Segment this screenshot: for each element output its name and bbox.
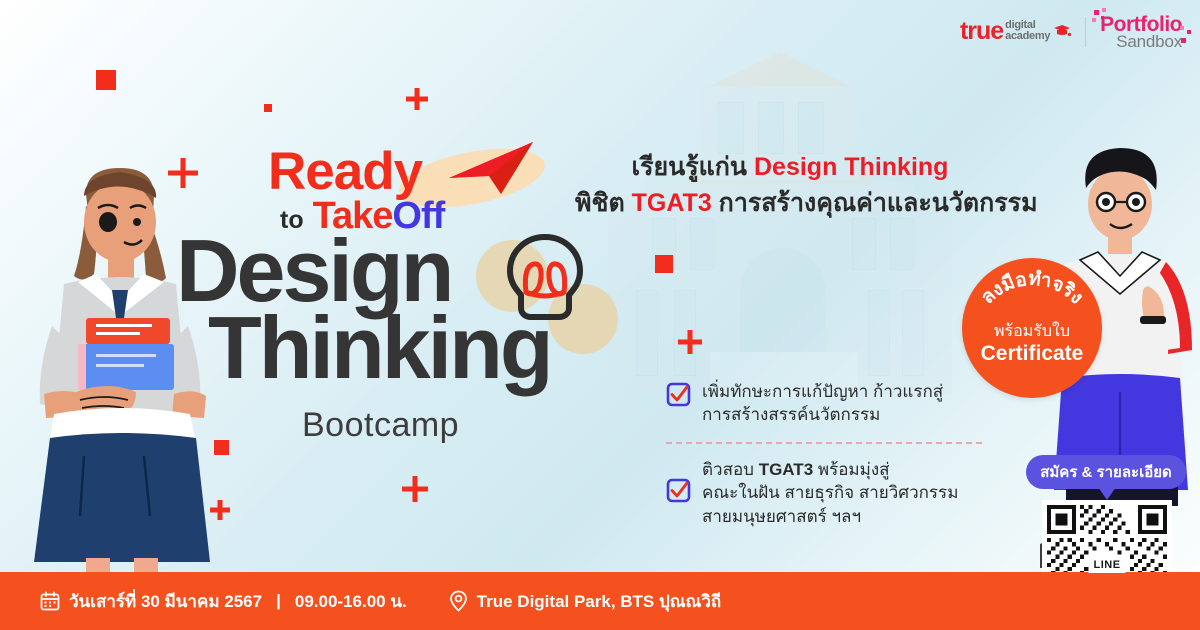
location-pin-icon (449, 590, 468, 612)
event-venue: True Digital Park, BTS ปุณณวิถี (477, 588, 722, 615)
headline-thai-2b: การสร้างคุณค่าและนวัตกรรม (712, 189, 1038, 217)
headline-thai-1: เรียนรู้แก่น (632, 153, 754, 181)
headline-line-2: พิชิต TGAT3 การสร้างคุณค่าและนวัตกรรม (575, 186, 1005, 222)
decor-plus (406, 88, 428, 110)
true-digital-academy-logo: true digital academy (960, 20, 1071, 44)
portfolio-logo-dots-right (1178, 26, 1196, 48)
bullet-2-line-2: คณะในฝัน สายธุรกิจ สายวิศวกรรม (702, 481, 958, 504)
line-label: LINE (1088, 557, 1125, 573)
dashed-divider (666, 442, 982, 444)
decor-square (264, 104, 272, 112)
headline-red-1: Design Thinking (754, 153, 948, 181)
headline-line-1: เรียนรู้แก่น Design Thinking (575, 150, 1005, 186)
student-female-illustration (24, 166, 224, 572)
page-title: Design Thinking (176, 232, 551, 387)
event-date: วันเสาร์ที่ 30 มีนาคม 2567 (69, 588, 262, 615)
bullet-2-line-1: ติวสอบ TGAT3 พร้อมมุ่งสู่ (702, 458, 958, 481)
bullet-2-line-3: สายมนุษยศาสตร์ ฯลฯ (702, 505, 958, 528)
subtitle-bootcamp: Bootcamp (302, 406, 459, 445)
graduation-cap-icon (1053, 24, 1071, 41)
checkbox-checked-icon (666, 478, 691, 503)
calendar-icon (40, 591, 60, 611)
paper-plane-icon (445, 138, 540, 200)
list-item: ติวสอบ TGAT3 พร้อมมุ่งสู่ คณะในฝัน สายธุ… (666, 458, 986, 528)
checkbox-checked-icon (666, 382, 691, 407)
event-details-bar: วันเสาร์ที่ 30 มีนาคม 2567 | 09.00-16.00… (0, 572, 1200, 630)
list-item-text: ติวสอบ TGAT3 พร้อมมุ่งสู่ คณะในฝัน สายธุ… (702, 458, 958, 528)
decor-plus (402, 476, 428, 502)
logo-divider (1085, 17, 1086, 47)
decor-square (655, 255, 673, 273)
event-date-group: วันเสาร์ที่ 30 มีนาคม 2567 (40, 588, 262, 615)
brand-logos: true digital academy Portfolio (960, 14, 1182, 50)
true-wordmark: true (960, 20, 1003, 44)
sandbox-wordmark: Sandbox (1100, 33, 1182, 50)
cta-pointer (1098, 487, 1116, 500)
bullet-2-bold: TGAT3 (759, 460, 813, 479)
bullet-1-line-1: เพิ่มทักษะการแก้ปัญหา ก้าวแรกสู่ (702, 380, 943, 403)
title-line-2: Thinking (208, 309, 551, 386)
decor-plus (678, 330, 702, 354)
bullet-1-line-2: การสร้างสรรค์นวัตกรรม (702, 403, 943, 426)
lightbulb-icon (502, 232, 588, 326)
headline-thai-2a: พิชิต (575, 189, 632, 217)
certificate-badge: ลงมือทำจริง พร้อมรับใบ Certificate (962, 258, 1102, 398)
bullet-2-pre: ติวสอบ (702, 460, 759, 479)
list-item-text: เพิ่มทักษะการแก้ปัญหา ก้าวแรกสู่ การสร้า… (702, 380, 943, 427)
decor-square (96, 70, 116, 90)
footer-separator: | (276, 591, 281, 611)
true-logo-academy: academy (1005, 31, 1050, 42)
headline-red-2: TGAT3 (632, 189, 712, 217)
register-cta-button[interactable]: สมัคร & รายละเอียด (1026, 455, 1186, 489)
list-item: เพิ่มทักษะการแก้ปัญหา ก้าวแรกสู่ การสร้า… (666, 380, 986, 427)
badge-line-3: Certificate (981, 341, 1084, 366)
badge-arc-text: ลงมือทำจริง (962, 264, 1102, 334)
event-venue-group: True Digital Park, BTS ปุณณวิถี (449, 588, 722, 615)
event-time: 09.00-16.00 น. (295, 588, 407, 615)
bullet-2-post: พร้อมมุ่งสู่ (813, 460, 889, 479)
headline-block: เรียนรู้แก่น Design Thinking พิชิต TGAT3… (575, 150, 1005, 221)
feature-list: เพิ่มทักษะการแก้ปัญหา ก้าวแรกสู่ การสร้า… (666, 380, 986, 528)
cta-label: สมัคร & รายละเอียด (1040, 460, 1171, 484)
ready-text: Ready (268, 148, 588, 197)
portfolio-logo-dots (1092, 8, 1118, 28)
svg-text:ลงมือทำจริง: ลงมือทำจริง (977, 268, 1087, 308)
portfolio-sandbox-logo: Portfolio Sandbox (1100, 14, 1182, 50)
promo-banner: true digital academy Portfolio (0, 0, 1200, 630)
